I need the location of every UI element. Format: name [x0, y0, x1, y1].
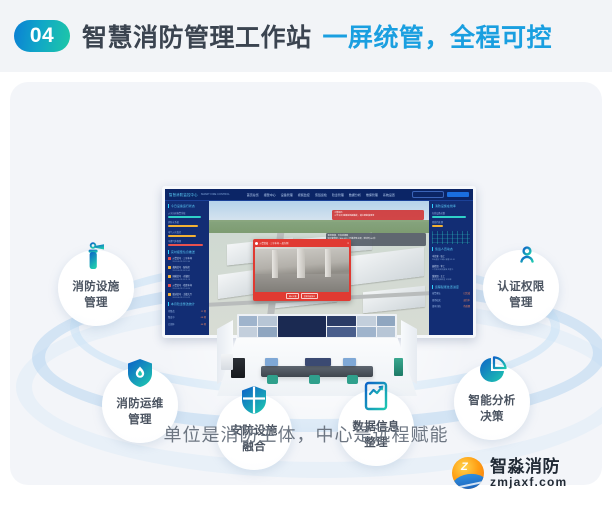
operator-chair [309, 375, 320, 384]
duty-title: 维保组 · 王工 [432, 274, 470, 278]
slide-root: 04 智慧消防管理工作站 一屏统管，全程可控 智慧消防监控中心 SMART FI… [0, 0, 612, 513]
metric-label: 离线待处理 [432, 220, 470, 224]
alert-title: 故障信号 · 配电房 [173, 265, 191, 269]
stat-value: 46 项 [201, 322, 206, 326]
dashboard-topbar: 智慧消防监控中心 SMART FIRE CONTROL 首页总览 报警中心 设备… [165, 189, 473, 201]
cctv-video-feed[interactable] [255, 247, 349, 292]
dashboard-subtitle: SMART FIRE CONTROL [201, 193, 230, 196]
stat-value: 12 项 [201, 309, 206, 313]
nav-item[interactable]: 报警中心 [264, 193, 276, 197]
metric-row: 在线设备总数 [432, 211, 470, 218]
brand-name-cn: 智淼消防 [490, 458, 567, 476]
operator-chair [267, 375, 278, 384]
equipment-rack [394, 358, 403, 376]
alert-item[interactable]: 火警信号 · 三号车间 2024-06-18 09:12:40 [168, 256, 206, 263]
alert-item[interactable]: 联动信号 · 主楼大厅 2024-06-18 07:10:25 [168, 292, 206, 299]
brand-url: zmjaxf.com [490, 476, 567, 489]
nav-item[interactable]: 系统设置 [383, 193, 395, 197]
stat-key: 已闭环 [168, 322, 175, 326]
node-access-authorization-management[interactable]: 认证权限管理 [483, 250, 559, 326]
metric-label: 电气火灾监控 [168, 230, 206, 234]
node-label: 认证权限管理 [483, 280, 559, 311]
alert-item[interactable]: 火警信号 · 喷涂车间 2024-06-18 07:44:56 [168, 283, 206, 290]
alert-title: 火警信号 · 三号车间 [173, 256, 192, 260]
panel-title: 实时报警信息推送 [168, 250, 206, 254]
metric-label: 在线设备总数 [432, 211, 470, 215]
shield-quadrant-icon [238, 384, 270, 416]
node-label: 消防设施管理 [58, 280, 134, 311]
nav-item[interactable]: 维保管理 [366, 193, 378, 197]
duty-item[interactable]: 维保组 · 王工 配电房故障排查 已派单 [432, 274, 470, 282]
metric-row: 消防水系统 [168, 220, 206, 227]
metric-row: 离线待处理 [432, 220, 470, 227]
alert-time: 2024-06-18 07:44:56 [173, 288, 192, 290]
panel-title: 远程赋能处置进度 [432, 285, 470, 289]
popup-actions: 确认火警 误报消音复位 [255, 293, 349, 299]
page-title: 智慧消防管理工作站 [82, 18, 312, 54]
chart-document-icon [360, 380, 392, 412]
nav-item[interactable]: 值班巡检 [315, 193, 327, 197]
dashboard-topbar-right [412, 191, 469, 198]
id-card-person-icon [505, 240, 537, 272]
desk-monitor [343, 358, 356, 366]
alert-time: 2024-06-18 09:12:40 [173, 261, 192, 263]
panel-title: 本月隐患整改统计 [168, 302, 206, 306]
dashboard-title: 智慧消防监控中心 [169, 192, 198, 197]
fire-extinguisher-icon [80, 240, 112, 272]
fire-alarm-popup[interactable]: 火警复核 · 三号车间 一层东侧 × [253, 239, 351, 301]
toast-body: 三号车间 感烟探测器触发，请立即复核现场 [334, 215, 422, 218]
alert-toast-fire: 火警提示 三号车间 感烟探测器触发，请立即复核现场 [332, 210, 424, 219]
alert-title: 火警信号 · 喷涂车间 [173, 283, 192, 287]
metric-label: 消防水系统 [168, 220, 206, 224]
alert-title: 联动信号 · 主楼大厅 [173, 292, 192, 296]
logo-letter: Z [461, 462, 468, 473]
node-fire-facility-management[interactable]: 消防设施管理 [58, 250, 134, 326]
brand-logo: Z 智淼消防 zmjaxf.com [452, 452, 602, 494]
metric-row: 可燃气体探测 [168, 239, 206, 246]
stat-value: 08 项 [201, 315, 206, 319]
alert-time: 2024-06-18 08:31:18 [173, 279, 191, 281]
operator-chair [347, 375, 358, 384]
alert-time: 2024-06-18 08:55:02 [173, 270, 191, 272]
duty-desc: 三号车间现场复核 处置中 [432, 268, 470, 271]
duty-desc: 配电房故障排查 已派单 [432, 278, 470, 281]
alert-title: 屏蔽信号 · 仓储区 [173, 274, 191, 278]
server-cabinet [231, 358, 245, 378]
duty-item[interactable]: 巡检组 · 李工 三号车间现场复核 处置中 [432, 264, 470, 272]
stat-row: 接警确认 已完成 [432, 291, 470, 295]
false-alarm-reset-button[interactable]: 误报消音复位 [301, 293, 318, 299]
bottom-caption: 单位是消防主体，中心是远程赋能 [0, 421, 612, 447]
close-icon[interactable]: × [347, 242, 349, 245]
metric-row: 火灾自动报警系统 [168, 211, 206, 218]
confirm-fire-button[interactable]: 确认火警 [286, 293, 299, 299]
desk-monitor [305, 358, 331, 366]
alert-item[interactable]: 故障信号 · 配电房 2024-06-18 08:55:02 [168, 265, 206, 272]
panel-title: 值班人员动态 [432, 247, 470, 251]
alert-time: 2024-06-18 07:10:25 [173, 297, 192, 299]
panel-title: 消防设施在线率 [432, 204, 470, 208]
duty-title: 巡检组 · 李工 [432, 264, 470, 268]
logo-mark-icon: Z [452, 457, 484, 489]
shield-flame-icon [124, 357, 156, 389]
nav-item[interactable]: 设备管理 [281, 193, 293, 197]
stat-row: 闭环归档 待处理 [432, 304, 470, 308]
trend-chart [432, 231, 470, 244]
duty-desc: 在岗值守 已确认接警 09:10 [432, 258, 470, 261]
stat-key: 接警确认 [432, 291, 441, 295]
stat-value: 进行中 [463, 298, 470, 302]
popup-title: 火警复核 · 三号车间 一层东侧 [260, 241, 289, 245]
section-number-badge: 04 [14, 20, 70, 52]
stat-value: 待处理 [463, 304, 470, 308]
panel-title: 今日设备运行状态 [168, 204, 206, 208]
nav-item[interactable]: 数据分析 [349, 193, 361, 197]
dashboard-nav[interactable]: 首页总览 报警中心 设备管理 视频监控 值班巡检 隐患管理 数据分析 维保管理 … [247, 193, 395, 197]
stat-row: 整改中 08 项 [168, 315, 206, 319]
nav-item[interactable]: 视频监控 [298, 193, 310, 197]
stat-key: 待整改 [168, 309, 175, 313]
dashboard-right-panel: 消防设施在线率 在线设备总数 离线待处理 值班人员动态 中控室 · 张工 [429, 201, 473, 335]
nav-item[interactable]: 首页总览 [247, 193, 259, 197]
side-cabinet [221, 354, 233, 370]
video-wall [237, 314, 397, 338]
stat-row: 已闭环 46 项 [168, 322, 206, 326]
popup-header: 火警复核 · 三号车间 一层东侧 × [255, 241, 349, 245]
desk-monitor [265, 358, 278, 366]
metric-row: 电气火灾监控 [168, 230, 206, 237]
logo-text: 智淼消防 zmjaxf.com [490, 458, 567, 488]
stat-key: 现场核实 [432, 298, 441, 302]
metric-label: 火灾自动报警系统 [168, 211, 206, 215]
stat-key: 整改中 [168, 315, 175, 319]
stat-key: 闭环归档 [432, 304, 441, 308]
dashboard-search-input[interactable] [412, 191, 444, 198]
duty-title: 中控室 · 张工 [432, 254, 470, 258]
duty-item[interactable]: 中控室 · 张工 在岗值守 已确认接警 09:10 [432, 254, 470, 262]
page-subtitle: 一屏统管，全程可控 [323, 18, 553, 54]
header-bar: 04 智慧消防管理工作站 一屏统管，全程可控 [0, 0, 612, 72]
stat-value: 已完成 [463, 291, 470, 295]
dashboard-alarm-button[interactable] [447, 192, 469, 197]
pie-chart-icon [476, 354, 508, 386]
alert-item[interactable]: 屏蔽信号 · 仓储区 2024-06-18 08:31:18 [168, 274, 206, 281]
dashboard-left-panel: 今日设备运行状态 火灾自动报警系统 消防水系统 电气火灾监控 [165, 201, 209, 335]
stat-row: 待整改 12 项 [168, 309, 206, 313]
metric-label: 可燃气体探测 [168, 239, 206, 243]
nav-item[interactable]: 隐患管理 [332, 193, 344, 197]
stat-row: 现场核实 进行中 [432, 298, 470, 302]
